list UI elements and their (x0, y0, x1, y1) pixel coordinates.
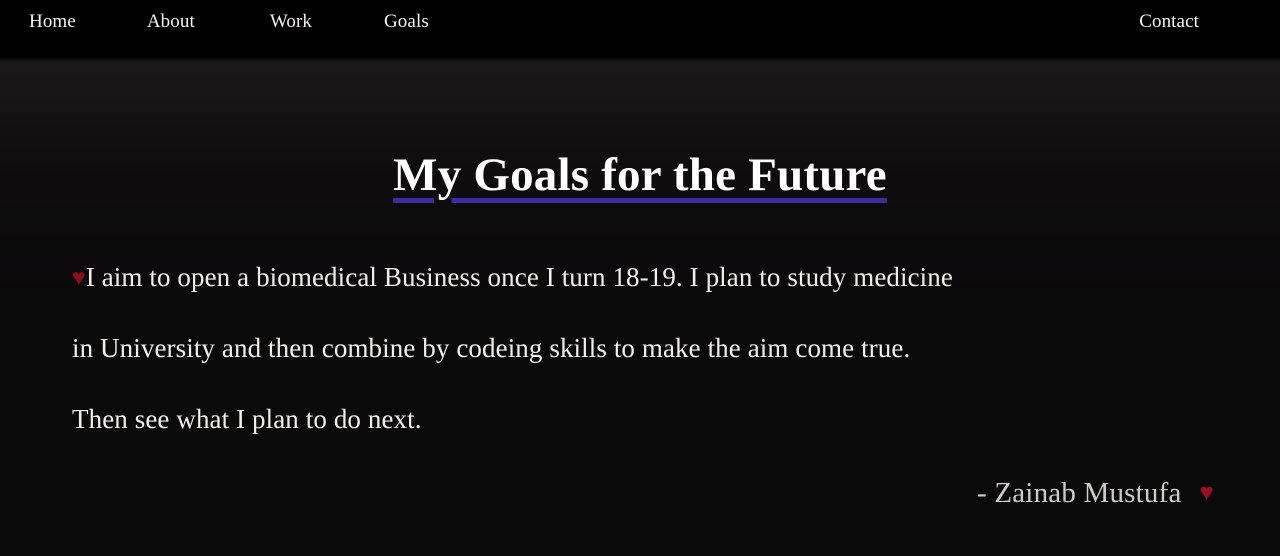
paragraph-line-1: ♥I aim to open a biomedical Business onc… (72, 264, 1202, 291)
author-signature-text: - Zainab Mustufa (977, 477, 1182, 509)
nav-links-left: Home About Work Goals (0, 0, 429, 57)
heart-icon: ♥ (72, 265, 86, 290)
nav-links-right: Contact (1139, 12, 1199, 32)
paragraph-line-2: in University and then combine by codein… (72, 335, 1202, 362)
page-title-text: My Goals for the Future (393, 149, 887, 201)
top-navigation-bar: Home About Work Goals Contact (0, 0, 1280, 57)
goals-text-block: ♥I aim to open a biomedical Business onc… (72, 264, 1202, 477)
paragraph-line-3: Then see what I plan to do next. (72, 406, 1202, 433)
nav-link-home[interactable]: Home (29, 12, 76, 31)
nav-link-contact[interactable]: Contact (1139, 12, 1199, 31)
heart-icon-signature: ♥ (1200, 480, 1214, 506)
author-signature: - Zainab Mustufa♥ (977, 476, 1214, 510)
page-title: My Goals for the Future (0, 146, 1280, 204)
nav-link-work[interactable]: Work (270, 12, 312, 31)
page-root: Home About Work Goals Contact My Goals f… (0, 0, 1280, 556)
nav-link-about[interactable]: About (147, 12, 195, 31)
paragraph-line-1-text: I aim to open a biomedical Business once… (86, 262, 953, 292)
nav-link-goals[interactable]: Goals (384, 12, 429, 31)
